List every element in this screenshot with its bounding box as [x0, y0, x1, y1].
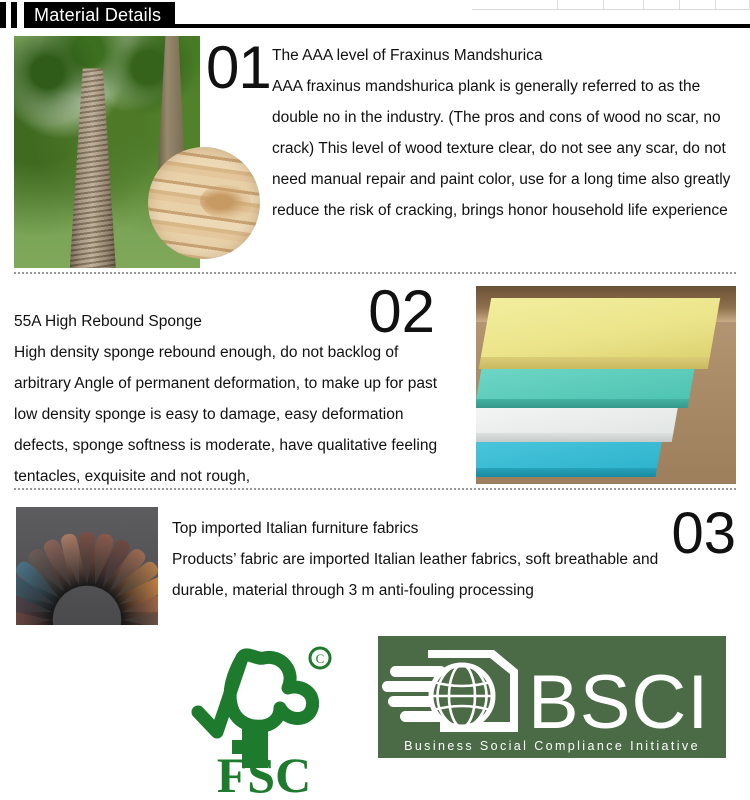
bsci-logo: BSCI Business Social Compliance Initiati… [378, 636, 726, 758]
material-section-02: 02 55A High Rebound Sponge High density … [0, 286, 750, 492]
foam-slab-teal [476, 367, 695, 399]
section-03-copy: Top imported Italian furniture fabrics P… [172, 513, 712, 606]
header-rule [175, 24, 750, 28]
fsc-wordmark: FSC [217, 747, 311, 796]
swatch-fan [25, 512, 149, 620]
fsc-copyright-mark: C [316, 651, 325, 666]
foam-slab-yellow [481, 298, 720, 357]
section-02-heading: 55A High Rebound Sponge [14, 306, 454, 337]
fsc-logo: C FSC [176, 636, 352, 796]
header-bar-mark-1 [0, 2, 6, 28]
foam-sponge-photo [476, 286, 736, 484]
section-03-heading: Top imported Italian furniture fabrics [172, 513, 712, 544]
page-title: Material Details [24, 2, 175, 28]
section-number-01: 01 [206, 38, 271, 98]
section-03-body: Products’ fabric are imported Italian le… [172, 551, 658, 599]
wood-grain-circle-photo [148, 147, 260, 259]
certification-logos: C FSC [0, 632, 750, 800]
material-section-01: 01 The AAA level of Fraxinus Mandshurica… [0, 34, 750, 272]
divider-01 [14, 272, 736, 274]
section-02-copy: 55A High Rebound Sponge High density spo… [14, 306, 454, 492]
header-bar-mark-2 [11, 2, 17, 28]
section-header: Material Details [0, 2, 750, 28]
section-01-copy: The AAA level of Fraxinus Mandshurica AA… [272, 40, 740, 226]
leather-swatch-fan-photo [16, 507, 158, 625]
bsci-wordmark: BSCI [528, 660, 709, 745]
divider-02 [14, 488, 736, 490]
section-02-body: High density sponge rebound enough, do n… [14, 344, 437, 485]
bsci-tagline: Business Social Compliance Initiative [404, 739, 700, 753]
section-01-heading: The AAA level of Fraxinus Mandshurica [272, 40, 740, 71]
material-section-03: 03 Top imported Italian furniture fabric… [0, 505, 750, 627]
section-01-body: AAA fraxinus mandshurica plank is genera… [272, 78, 730, 219]
